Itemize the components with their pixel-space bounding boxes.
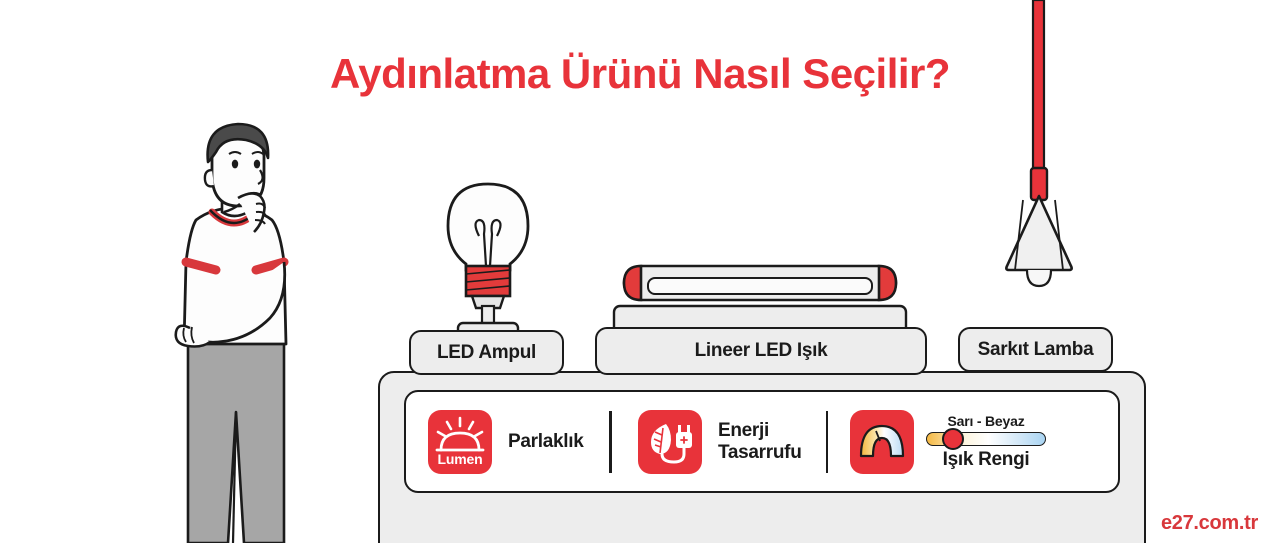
feature-list: Lumen Parlaklık (404, 390, 1120, 493)
thinking-person-illustration (160, 112, 330, 543)
lumen-icon-text: Lumen (428, 451, 492, 467)
tab-led-ampul[interactable]: LED Ampul (409, 330, 564, 375)
leaf-plug-icon (638, 410, 702, 474)
feature-enerji-tasarrufu-label: Enerji Tasarrufu (718, 420, 802, 464)
color-temperature-gauge-icon (850, 410, 914, 474)
feature-isik-rengi[interactable]: Sarı - Beyaz Işık Rengi (828, 392, 1046, 491)
site-watermark: e27.com.tr (1161, 512, 1258, 535)
light-color-range-label: Sarı - Beyaz (948, 413, 1025, 429)
light-color-control[interactable]: Sarı - Beyaz Işık Rengi (926, 413, 1046, 471)
feature-parlaklik-label: Parlaklık (508, 431, 583, 453)
tab-sarkit-lamba[interactable]: Sarkıt Lamba (958, 327, 1113, 372)
linear-led-tube-illustration (600, 258, 920, 338)
led-bulb-illustration (432, 178, 544, 338)
pendant-lamp-illustration (975, 0, 1105, 290)
sun-lumen-icon: Lumen (428, 410, 492, 474)
feature-isik-rengi-label: Işık Rengi (943, 449, 1030, 471)
feature-parlaklik[interactable]: Lumen Parlaklık (406, 392, 583, 491)
tab-lineer-led-isik[interactable]: Lineer LED Işık (595, 327, 927, 375)
infographic-canvas: LED Ampul Lineer LED Işık Sarkıt Lamba (0, 0, 1280, 543)
light-color-slider-knob[interactable] (942, 428, 964, 450)
feature-enerji-tasarrufu[interactable]: Enerji Tasarrufu (612, 392, 802, 491)
light-color-slider[interactable] (926, 432, 1046, 446)
page-title: Aydınlatma Ürünü Nasıl Seçilir? (0, 50, 1280, 98)
